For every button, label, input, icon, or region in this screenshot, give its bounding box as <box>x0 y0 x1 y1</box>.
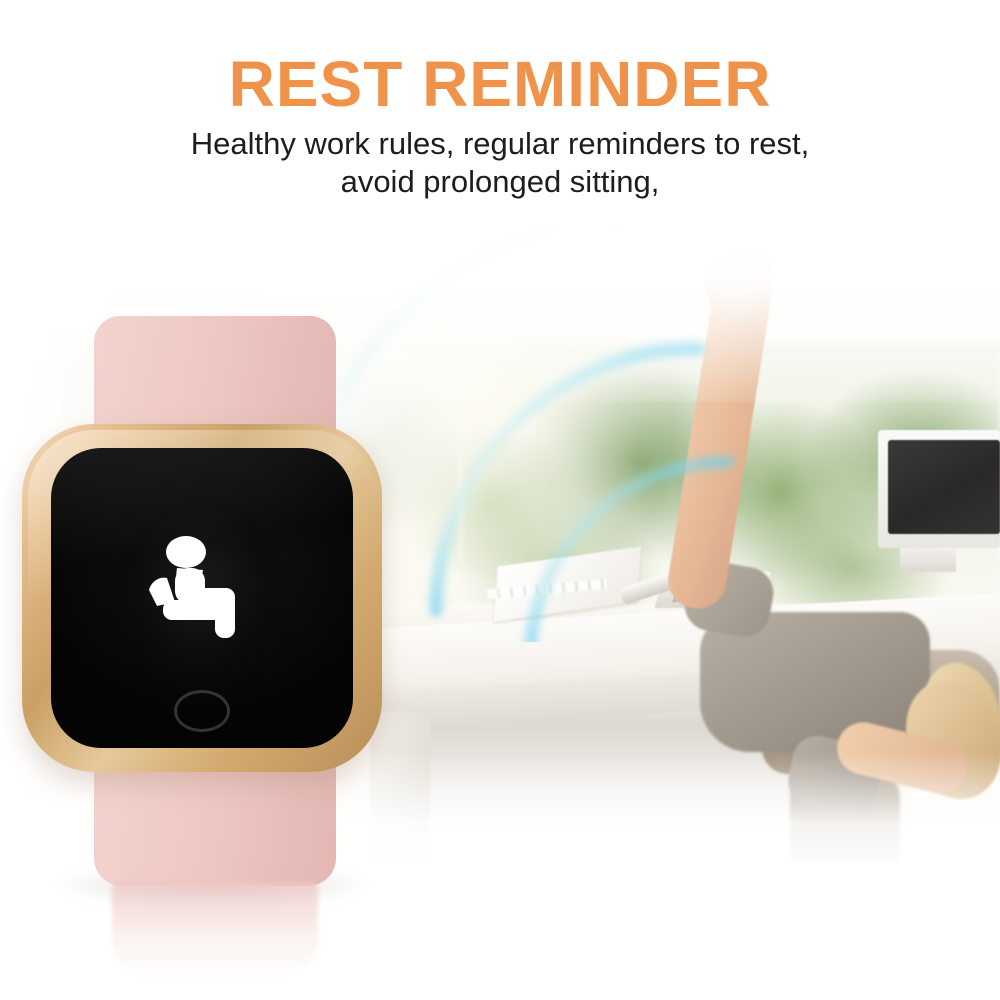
monitor-stand <box>900 548 956 572</box>
sitting-person-icon <box>141 528 267 654</box>
watch-screen[interactable] <box>51 448 353 748</box>
watch-reflection <box>112 882 318 978</box>
smartwatch <box>18 316 386 886</box>
headline-block: REST REMINDER Healthy work rules, regula… <box>0 52 1000 201</box>
page-subtitle: Healthy work rules, regular reminders to… <box>90 125 910 201</box>
subtitle-line-1: Healthy work rules, regular reminders to… <box>90 125 910 163</box>
watch-case <box>22 424 382 772</box>
subtitle-line-2: avoid prolonged sitting, <box>90 163 910 201</box>
page-title: REST REMINDER <box>0 52 1000 117</box>
page-root: REST REMINDER Healthy work rules, regula… <box>0 0 1000 1000</box>
watch-strap-bottom <box>94 754 336 886</box>
monitor-screen <box>888 440 1000 534</box>
watch-home-button[interactable] <box>174 690 230 732</box>
